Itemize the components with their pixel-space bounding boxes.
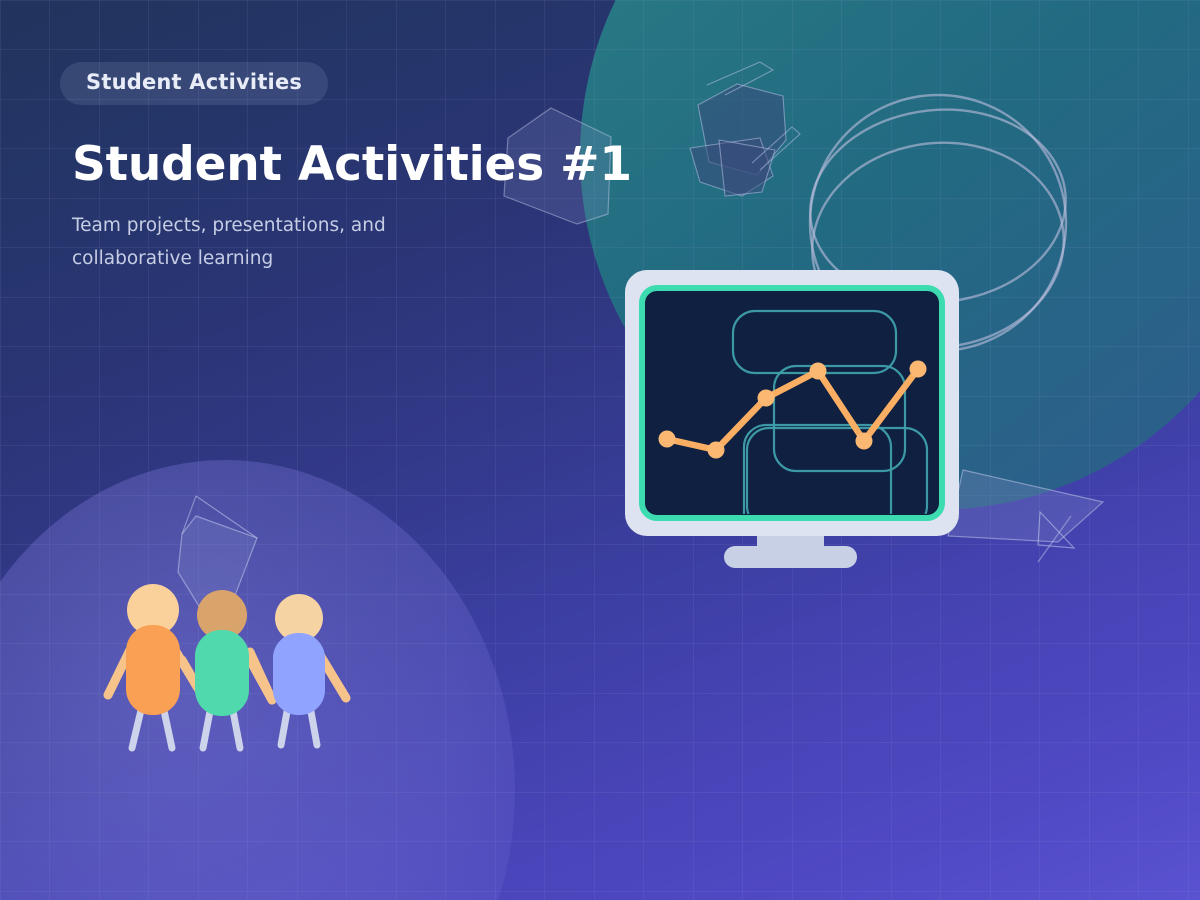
person-body xyxy=(195,630,249,716)
page-title: Student Activities #1 xyxy=(72,139,680,192)
text-block: Student Activities Student Activities #1… xyxy=(60,62,680,276)
slide-root: Student Activities Student Activities #1… xyxy=(0,0,1200,900)
person-orange xyxy=(126,584,180,715)
monitor-stand-base xyxy=(724,546,857,568)
page-subtitle: Team projects, presentations, and collab… xyxy=(72,210,457,276)
person-blue xyxy=(273,594,325,715)
chart-marker xyxy=(758,390,775,407)
person-body xyxy=(126,625,180,715)
chart-marker xyxy=(810,363,827,380)
people-group-illustration xyxy=(108,584,346,748)
chart-marker xyxy=(708,442,725,459)
chart-marker xyxy=(856,433,873,450)
chart-marker xyxy=(659,431,676,448)
monitor-screen-border xyxy=(642,288,942,518)
chart-marker xyxy=(910,361,927,378)
person-teal xyxy=(195,590,249,716)
person-body xyxy=(273,633,325,715)
category-badge[interactable]: Student Activities xyxy=(60,62,328,105)
desktop-monitor-illustration xyxy=(625,270,959,568)
